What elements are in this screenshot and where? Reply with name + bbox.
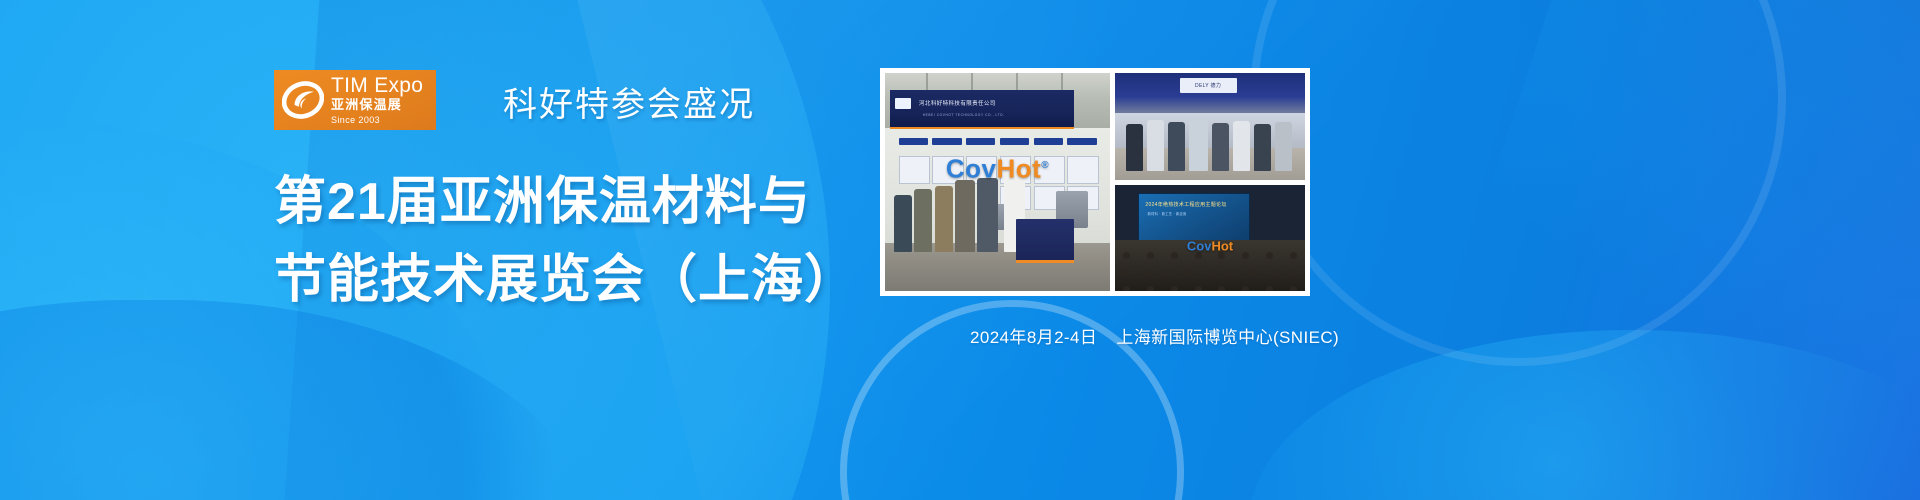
- logo-text-group: TIM Expo 亚洲保温展 Since 2003: [331, 75, 423, 125]
- covhot-watermark: CovHot®: [946, 153, 1049, 184]
- conference-presentation-photo[interactable]: 2024年绝热技术工程应用主题论坛 新材料 · 新工艺 · 新应用: [1115, 185, 1305, 292]
- background-blob-bottom-right: [1250, 330, 1920, 500]
- banner-title-line-1: 第21届亚洲保温材料与: [274, 163, 857, 241]
- event-venue: 上海新国际博览中心(SNIEC): [1116, 328, 1339, 347]
- booth-header-banner: 河北科好特科技有限责任公司 HEBEI COVHOT TECHNOLOGY CO…: [890, 90, 1075, 129]
- collage-right-column: DELY 德力 2024年绝热技术工程应用主题论坛 新材料 · 新工艺 · 新应…: [1115, 73, 1305, 291]
- photo-collage: 河北科好特科技有限责任公司 HEBEI COVHOT TECHNOLOGY CO…: [880, 68, 1310, 296]
- logo-subtitle: 亚洲保温展: [331, 98, 423, 111]
- logo-title: TIM Expo: [331, 75, 423, 96]
- booth-banner-company-name: 河北科好特科技有限责任公司: [919, 99, 996, 107]
- event-banner: TIM Expo 亚洲保温展 Since 2003 科好特参会盛况 第21届亚洲…: [0, 0, 1920, 500]
- banner-title-line-2: 节能技术展览会（上海）: [274, 241, 857, 319]
- watermark-small-cov: Cov: [1187, 239, 1212, 254]
- event-info: 2024年8月2-4日 上海新国际博览中心(SNIEC): [970, 323, 1339, 348]
- presentation-screen-subtitle: 新材料 · 新工艺 · 新应用: [1148, 211, 1187, 216]
- booth-counter: [1016, 219, 1075, 263]
- watermark-hot: Hot: [996, 153, 1041, 183]
- banner-title: 第21届亚洲保温材料与 节能技术展览会（上海）: [274, 163, 857, 319]
- presentation-screen-title: 2024年绝热技术工程应用主题论坛: [1145, 201, 1226, 208]
- watermark-reg: ®: [1041, 160, 1049, 171]
- booth-banner-logo-icon: [895, 98, 911, 109]
- background-corner-shade: [1520, 0, 1920, 300]
- logo-since: Since 2003: [331, 116, 423, 125]
- background-ring-small: [1250, 0, 1786, 366]
- booth-banner-company-name-en: HEBEI COVHOT TECHNOLOGY CO., LTD.: [923, 113, 1005, 117]
- background-diagonal-right: [1388, 0, 1920, 500]
- event-date: 2024年8月2-4日: [970, 328, 1097, 347]
- banner-subtitle: 科好特参会盛况: [503, 77, 755, 126]
- presentation-screen: 2024年绝热技术工程应用主题论坛 新材料 · 新工艺 · 新应用: [1138, 193, 1250, 242]
- watermark-small-hot: Hot: [1211, 239, 1233, 254]
- exhibition-booth-photo[interactable]: 河北科好特科技有限责任公司 HEBEI COVHOT TECHNOLOGY CO…: [885, 73, 1110, 291]
- watermark-cov: Cov: [946, 153, 997, 183]
- background-wave-bottom-left: [0, 300, 600, 500]
- aisle-sign-label: DELY 德力: [1180, 78, 1237, 93]
- covhot-watermark-small: CovHot: [1187, 239, 1233, 254]
- tim-expo-logo[interactable]: TIM Expo 亚洲保温展 Since 2003: [274, 70, 436, 130]
- tim-expo-leaf-icon: [282, 79, 324, 121]
- exhibition-aisle-crowd-photo[interactable]: DELY 德力: [1115, 73, 1305, 180]
